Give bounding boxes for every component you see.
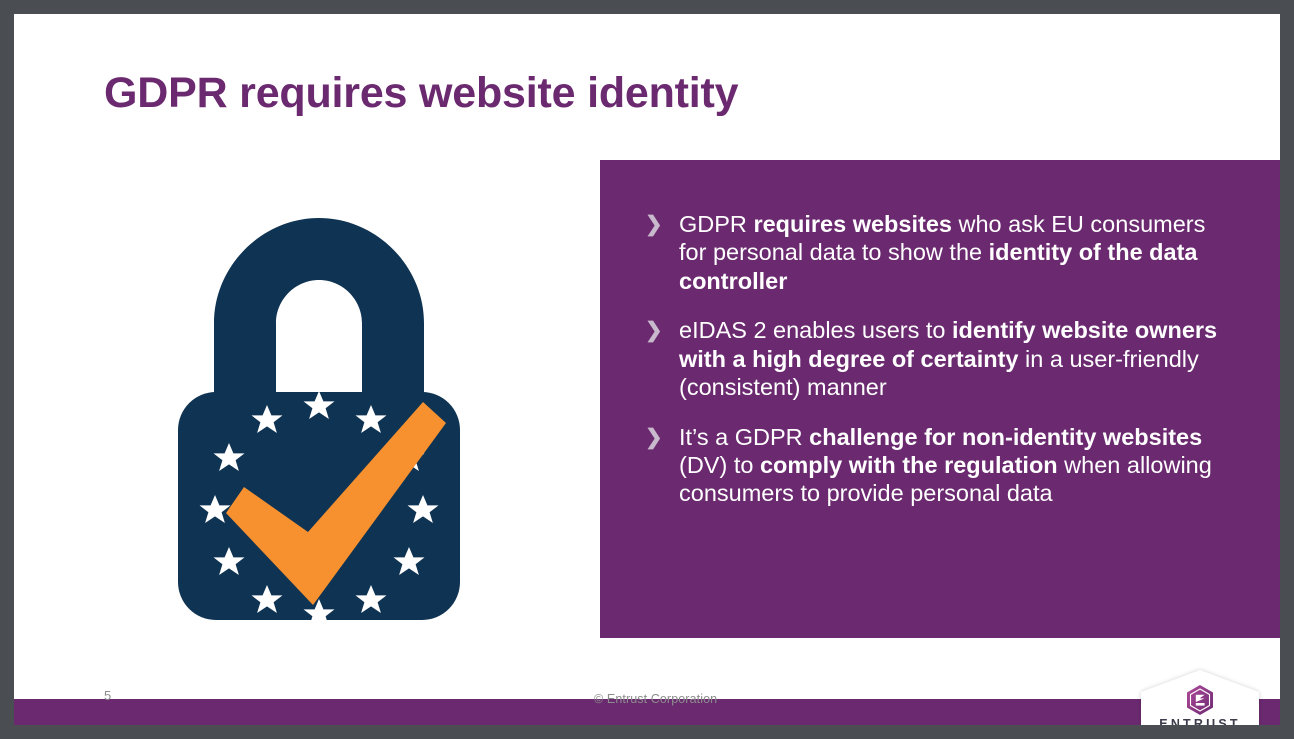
entrust-logo: ENTRUST — [1141, 670, 1259, 725]
bullet-item: ❯It’s a GDPR challenge for non-identity … — [642, 423, 1238, 508]
page-title: GDPR requires website identity — [104, 70, 1104, 117]
chevron-right-icon: ❯ — [645, 320, 665, 342]
bullet-text: eIDAS 2 enables users to identify websit… — [679, 317, 1217, 400]
content-panel: ❯GDPR requires websites who ask EU consu… — [600, 160, 1280, 638]
chevron-right-icon: ❯ — [645, 427, 665, 449]
chevron-right-icon: ❯ — [645, 214, 665, 236]
slide-viewer: GDPR requires website identity — [0, 0, 1294, 739]
bullet-list: ❯GDPR requires websites who ask EU consu… — [642, 210, 1238, 508]
bullet-item: ❯GDPR requires websites who ask EU consu… — [642, 210, 1238, 295]
slide-canvas: GDPR requires website identity — [14, 14, 1280, 725]
page-number: 5 — [104, 688, 111, 703]
bullet-text: It’s a GDPR challenge for non-identity w… — [679, 424, 1212, 507]
copyright-text: © Entrust Corporation — [594, 692, 717, 706]
eu-padlock-checkmark-illustration — [166, 210, 472, 620]
bullet-text: GDPR requires websites who ask EU consum… — [679, 211, 1205, 294]
entrust-wordmark: ENTRUST — [1159, 717, 1240, 725]
bullet-item: ❯eIDAS 2 enables users to identify websi… — [642, 316, 1238, 401]
padlock-icon — [166, 210, 472, 620]
entrust-logo-badge-icon: ENTRUST — [1141, 670, 1259, 725]
